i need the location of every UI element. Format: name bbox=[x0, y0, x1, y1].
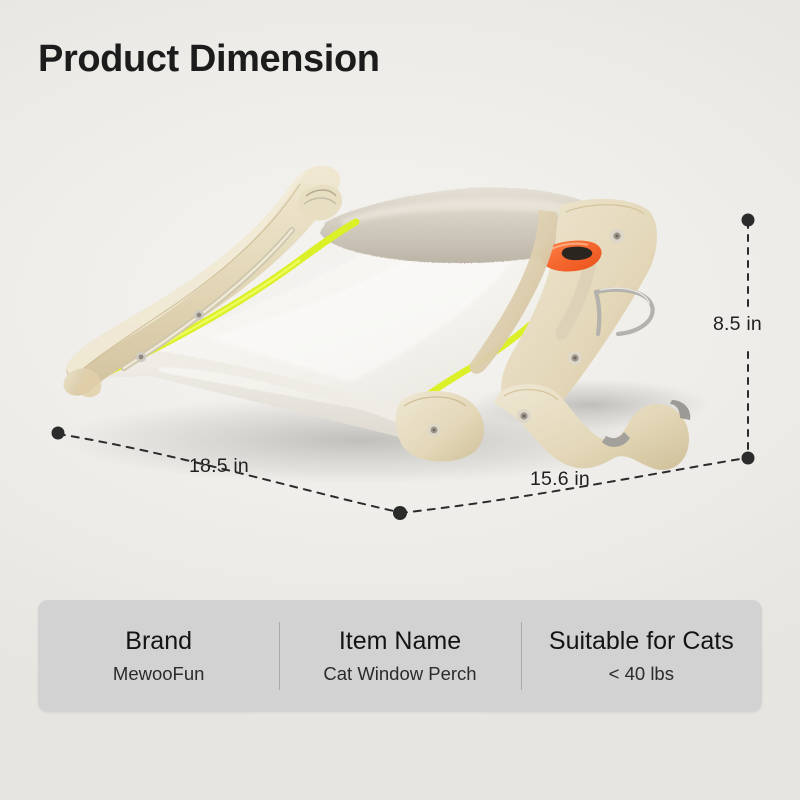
rivet bbox=[136, 352, 146, 362]
rivet bbox=[194, 310, 204, 320]
rivet bbox=[568, 351, 582, 365]
info-title-item-name: Item Name bbox=[339, 627, 461, 657]
info-column-item-name: Item Name Cat Window Perch bbox=[279, 600, 520, 712]
info-value-brand: MewooFun bbox=[113, 663, 205, 685]
product-illustration bbox=[0, 100, 800, 570]
info-value-suitable-for-cats: < 40 lbs bbox=[609, 663, 674, 685]
rivet bbox=[428, 424, 441, 437]
info-column-suitable-for-cats: Suitable for Cats < 40 lbs bbox=[521, 600, 762, 712]
info-title-suitable-for-cats: Suitable for Cats bbox=[549, 627, 734, 657]
rivet bbox=[610, 229, 624, 243]
info-column-brand: Brand MewooFun bbox=[38, 600, 279, 712]
info-value-item-name: Cat Window Perch bbox=[323, 663, 476, 685]
product-info-bar: Brand MewooFun Item Name Cat Window Perc… bbox=[38, 600, 762, 712]
info-title-brand: Brand bbox=[125, 627, 192, 657]
page-title: Product Dimension bbox=[38, 38, 380, 81]
rivet bbox=[517, 409, 531, 423]
product-dimension-infographic: Product Dimension bbox=[0, 0, 800, 800]
